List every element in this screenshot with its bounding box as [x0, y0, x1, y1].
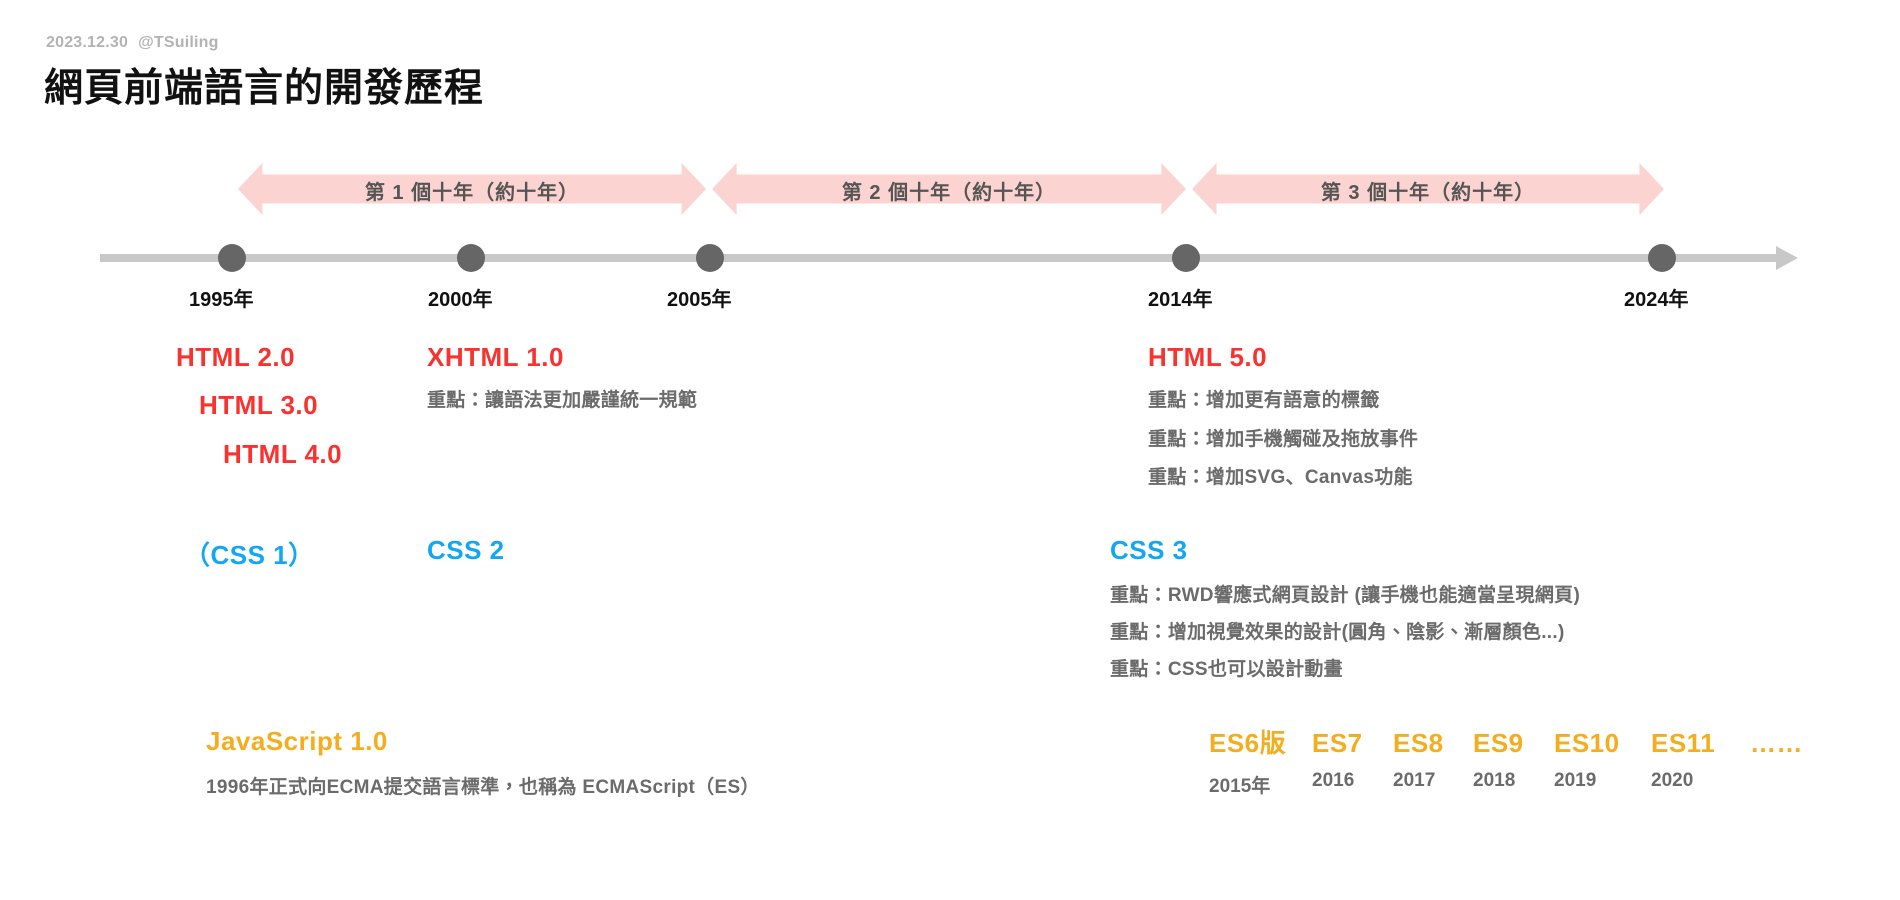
timeline-year-1995: 1995年 — [189, 283, 254, 312]
timeline-dot-2000 — [457, 244, 485, 272]
header-date: 2023.12.30 — [46, 34, 128, 51]
html-5-note-3: 重點：增加SVG、Canvas功能 — [1148, 462, 1413, 489]
timeline-arrow-icon — [1776, 246, 1798, 270]
es-version-item: ES10 2019 — [1554, 728, 1651, 792]
es-version-year: 2020 — [1651, 770, 1693, 792]
es-version-item: ES6版 2015年 — [1209, 723, 1312, 798]
decade-band-2-label: 第 2 個十年（約十年） — [842, 176, 1056, 205]
es-version-item: ES11 2020 — [1651, 728, 1750, 792]
javascript-1-note: 1996年正式向ECMA提交語言標準，也稱為 ECMAScript（ES） — [206, 772, 760, 799]
es-version-year: 2017 — [1393, 770, 1435, 792]
decade-band-1: 第 1 個十年（約十年） — [238, 163, 706, 215]
es-version-year: 2016 — [1312, 770, 1354, 792]
es-version-year: 2019 — [1554, 770, 1596, 792]
es-version-item: ES9 2018 — [1473, 728, 1554, 792]
es-version-name: ES9 — [1473, 728, 1524, 759]
timeline-dot-2024 — [1648, 244, 1676, 272]
es-version-name: ES8 — [1393, 728, 1444, 759]
css-1-label: （CSS 1） — [184, 535, 315, 572]
javascript-1-label: JavaScript 1.0 — [206, 726, 388, 757]
timeline-dot-2014 — [1172, 244, 1200, 272]
decade-band-2: 第 2 個十年（約十年） — [712, 163, 1186, 215]
es-version-name: ES7 — [1312, 728, 1363, 759]
timeline-line — [100, 254, 1780, 262]
html-2-label: HTML 2.0 — [176, 342, 295, 373]
html-5-note-1: 重點：增加更有語意的標籤 — [1148, 385, 1380, 412]
timeline-dot-1995 — [218, 244, 246, 272]
es-version-name: ES10 — [1554, 728, 1620, 759]
html-5-note-2: 重點：增加手機觸碰及拖放事件 — [1148, 424, 1418, 451]
timeline-dot-2005 — [696, 244, 724, 272]
es-version-item: ES7 2016 — [1312, 728, 1393, 792]
page-title: 網頁前端語言的開發歷程 — [44, 57, 484, 113]
es-version-name: …… — [1750, 728, 1803, 759]
css-3-note-2: 重點：增加視覺效果的設計(圓角、陰影、漸層顏色...) — [1110, 617, 1565, 644]
timeline-year-2014: 2014年 — [1148, 283, 1213, 312]
timeline-axis — [100, 254, 1798, 262]
css-3-note-1: 重點：RWD響應式網頁設計 (讓手機也能適當呈現網頁) — [1110, 580, 1580, 607]
es-version-year: 2018 — [1473, 770, 1515, 792]
header-meta: 2023.12.30@TSuiling — [46, 34, 219, 52]
header-handle: @TSuiling — [138, 34, 219, 51]
es-version-row: ES6版 2015年 ES7 2016 ES8 2017 ES9 2018 ES… — [1209, 723, 1803, 798]
es-version-item: ES8 2017 — [1393, 728, 1473, 792]
timeline-year-2005: 2005年 — [667, 283, 732, 312]
es-version-item-more: …… — [1750, 728, 1803, 770]
xhtml-1-note: 重點：讓語法更加嚴謹統一規範 — [427, 385, 697, 412]
html-5-label: HTML 5.0 — [1148, 342, 1267, 373]
es-version-name: ES11 — [1651, 728, 1715, 759]
css-2-label: CSS 2 — [427, 535, 505, 566]
decade-band-3: 第 3 個十年（約十年） — [1192, 163, 1664, 215]
decade-band-3-label: 第 3 個十年（約十年） — [1321, 176, 1535, 205]
xhtml-1-label: XHTML 1.0 — [427, 342, 564, 373]
css-3-note-3: 重點：CSS也可以設計動畫 — [1110, 654, 1343, 681]
html-4-label: HTML 4.0 — [223, 439, 342, 470]
decade-band-1-label: 第 1 個十年（約十年） — [365, 176, 579, 205]
timeline-year-2000: 2000年 — [428, 283, 493, 312]
timeline-year-2024: 2024年 — [1624, 283, 1689, 312]
es-version-name: ES6版 — [1209, 723, 1286, 760]
css-3-label: CSS 3 — [1110, 535, 1188, 566]
es-version-year: 2015年 — [1209, 771, 1270, 798]
html-3-label: HTML 3.0 — [199, 390, 318, 421]
